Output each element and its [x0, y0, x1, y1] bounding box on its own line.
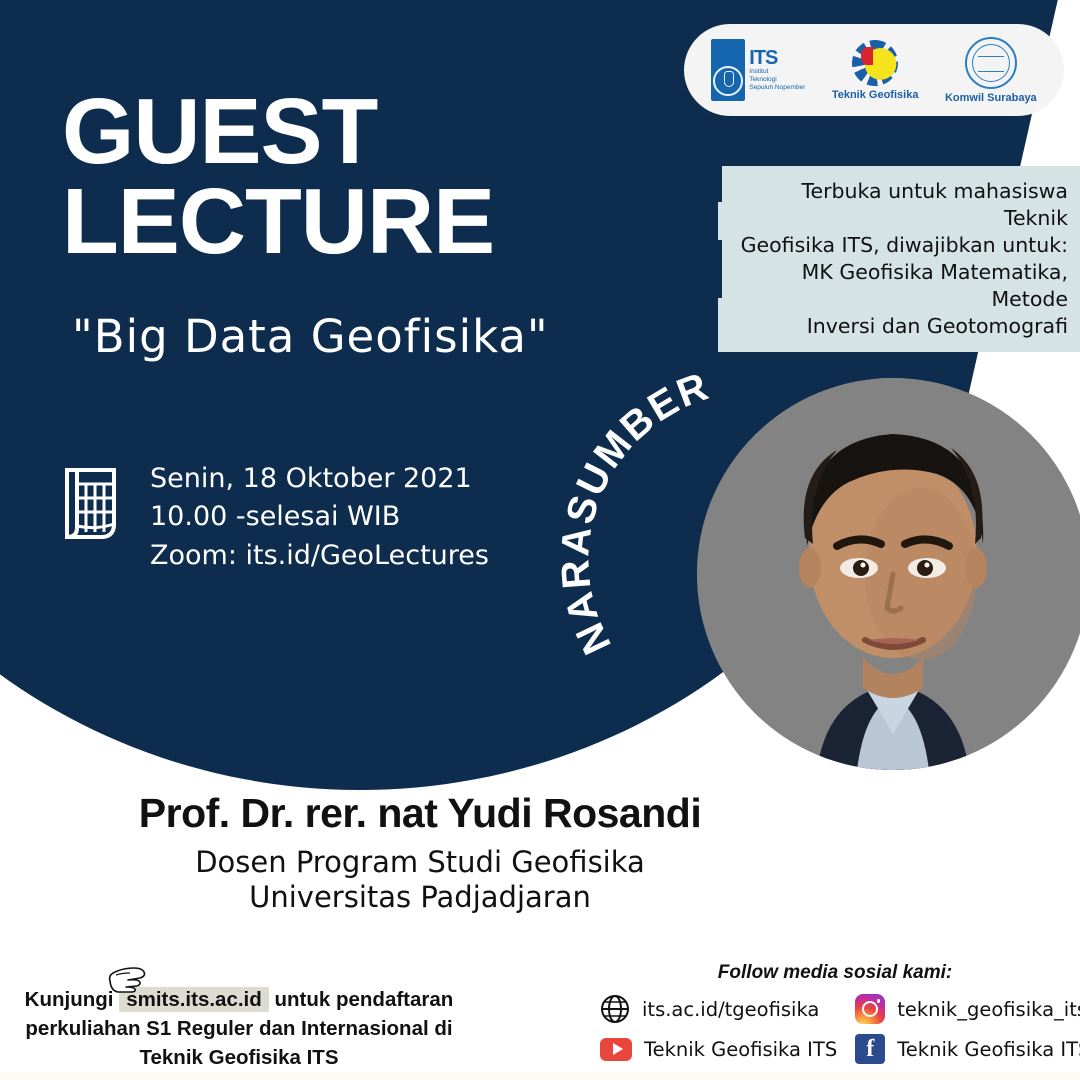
social-label-instagram: teknik_geofisika_its [897, 998, 1080, 1021]
social-item-youtube[interactable]: Teknik Geofisika ITS [600, 1034, 837, 1064]
youtube-icon [600, 1038, 632, 1061]
social-item-website[interactable]: its.ac.id/tgeofisika [600, 994, 837, 1024]
social-label-youtube: Teknik Geofisika ITS [644, 1038, 837, 1061]
social-item-facebook[interactable]: f Teknik Geofisika ITS [855, 1034, 1080, 1064]
its-name-line3: Sepuluh Nopember [749, 84, 805, 92]
social-block: Follow media sosial kami: its.ac.id/tgeo… [600, 962, 1070, 1064]
registration-line2: perkuliahan S1 Reguler dan Internasional… [14, 1014, 464, 1043]
speaker-role-line2: Universitas Padjadjaran [249, 880, 591, 914]
registration-suffix: untuk pendaftaran [274, 988, 453, 1011]
social-item-instagram[interactable]: teknik_geofisika_its [855, 994, 1080, 1024]
pointing-hand-icon [106, 963, 150, 995]
its-logo: ITS Institut Teknologi Sepuluh Nopember [711, 39, 805, 101]
registration-note: Kunjungi smits.its.ac.id untuk pendaftar… [14, 985, 464, 1072]
teknik-geofisika-logo: Teknik Geofisika [832, 40, 919, 101]
title-line-2: LECTURE [62, 176, 494, 266]
info-box-tab-bottom [700, 240, 722, 298]
info-line-3: MK Geofisika Matematika, Metode [732, 259, 1068, 313]
teknik-geofisika-caption: Teknik Geofisika [832, 89, 919, 101]
its-name-line1: Institut [749, 68, 805, 76]
schedule-date: Senin, 18 Oktober 2021 [150, 460, 489, 498]
social-label-facebook: Teknik Geofisika ITS [897, 1038, 1080, 1061]
narasumber-label: NARASUMBER [560, 364, 715, 661]
globe-icon [600, 994, 630, 1024]
komwil-logo: Komwil Surabaya [945, 37, 1037, 104]
lecture-subtitle: "Big Data Geofisika" [72, 310, 549, 363]
social-label-website: its.ac.id/tgeofisika [642, 998, 819, 1021]
registration-line3: Teknik Geofisika ITS [14, 1043, 464, 1072]
its-name-line2: Teknologi [749, 76, 805, 84]
schedule-zoom-link[interactable]: Zoom: its.id/GeoLectures [150, 537, 489, 575]
info-line-2: Geofisika ITS, diwajibkan untuk: [732, 232, 1068, 259]
info-line-4: Inversi dan Geotomografi [732, 313, 1068, 340]
schedule-block: Senin, 18 Oktober 2021 10.00 -selesai WI… [62, 460, 489, 575]
gear-globe-icon [852, 40, 898, 86]
instagram-icon [855, 994, 885, 1024]
speaker-name: Prof. Dr. rer. nat Yudi Rosandi [0, 790, 840, 837]
facebook-icon: f [855, 1034, 885, 1064]
title-line-1: GUEST [62, 86, 494, 176]
info-line-1: Terbuka untuk mahasiswa Teknik [732, 178, 1068, 232]
bottom-accent-strip [0, 1072, 1080, 1080]
its-acronym: ITS [749, 48, 805, 68]
speaker-role-line1: Dosen Program Studi Geofisika [195, 845, 645, 879]
poster-canvas: ITS Institut Teknologi Sepuluh Nopember … [0, 0, 1080, 1080]
registration-prefix: Kunjungi [25, 988, 114, 1011]
page-title: GUEST LECTURE [62, 86, 494, 266]
its-shield-icon [711, 39, 745, 101]
audience-info-box: Terbuka untuk mahasiswa Teknik Geofisika… [718, 166, 1080, 352]
follow-title: Follow media sosial kami: [600, 962, 1070, 984]
komwil-caption: Komwil Surabaya [945, 92, 1037, 104]
speaker-block: Prof. Dr. rer. nat Yudi Rosandi Dosen Pr… [0, 790, 840, 916]
calendar-icon [62, 466, 124, 542]
schedule-time: 10.00 -selesai WIB [150, 498, 489, 536]
info-box-tab-top [700, 166, 722, 202]
narasumber-badge: NARASUMBER [560, 360, 900, 700]
logo-bar: ITS Institut Teknologi Sepuluh Nopember … [684, 24, 1064, 116]
hagi-seal-icon [965, 37, 1017, 89]
